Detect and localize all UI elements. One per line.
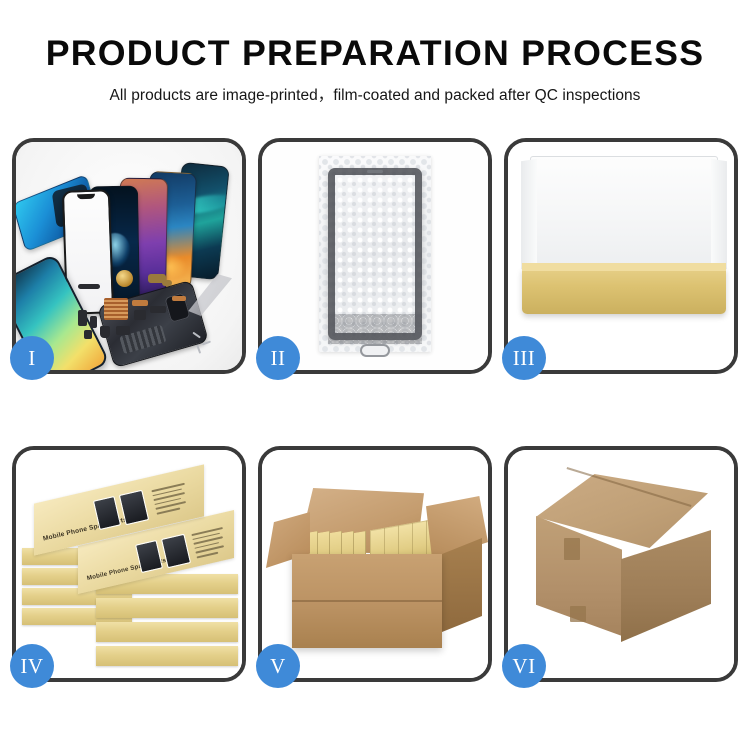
header: PRODUCT PREPARATION PROCESS All products… [0,34,750,105]
carton-side-panel [442,538,482,632]
step-badge-3: III [502,336,546,380]
step-badge-1: I [10,336,54,380]
carton-tape-upper [564,538,580,560]
step-image-1 [16,142,242,370]
step-badge-6: VI [502,644,546,688]
open-box-lid [530,156,718,272]
step-image-3 [508,142,734,370]
step-badge-5: V [256,644,300,688]
step-card-6[interactable]: VI [504,446,738,682]
process-step-grid: I II [12,138,738,682]
step-card-2[interactable]: II [258,138,492,374]
step-badge-2: II [256,336,300,380]
step-image-6 [508,450,734,678]
stacked-boxes: Mobile Phone Spare Parts Mobile Phone Sp… [22,470,242,666]
product-preparation-infographic: PRODUCT PREPARATION PROCESS All products… [0,0,750,750]
page-title: PRODUCT PREPARATION PROCESS [0,34,750,74]
kraft-box-tray [522,268,726,314]
step-card-5[interactable]: V [258,446,492,682]
screen-bottom-texture [328,314,422,344]
step-card-1[interactable]: I [12,138,246,374]
step-image-4: Mobile Phone Spare Parts Mobile Phone Sp… [16,450,242,678]
step-image-5 [262,450,488,678]
step-card-3[interactable]: III [504,138,738,374]
screws-group [192,332,226,354]
carton-tape-lower [570,606,586,622]
step-image-2 [262,142,488,370]
step-badge-4: IV [10,644,54,688]
step-card-4[interactable]: Mobile Phone Spare Parts Mobile Phone Sp… [12,446,246,682]
page-subtitle: All products are image-printed，film-coat… [0,83,750,105]
